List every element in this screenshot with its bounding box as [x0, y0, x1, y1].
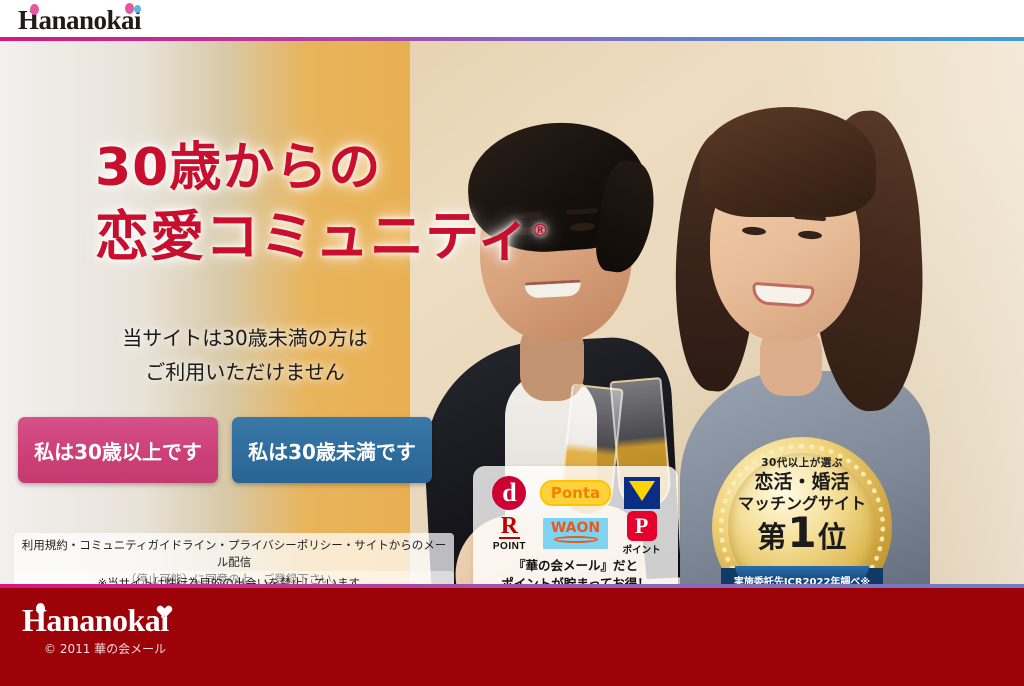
waon-ellipse-icon	[554, 536, 598, 543]
point-card: d Ponta R POINT WAON	[473, 466, 678, 584]
point-logo-item: P ポイント	[623, 514, 661, 552]
paypay-point-label: ポイント	[623, 542, 661, 556]
headline-line2-wrap: 恋愛コミュニティ®	[95, 199, 550, 269]
hero-section: 30歳からの 恋愛コミュニティ® 当サイトは30歳未満の方は ご利用いただけませ…	[0, 41, 1024, 584]
header-gradient-rule	[0, 37, 1024, 41]
medal-text-block: 30代以上が選ぶ 恋活・婚活 マッチングサイト 第 1 位	[712, 437, 892, 584]
rakuten-point-logo-icon: R	[499, 515, 520, 539]
logo-blue-dot-icon	[134, 5, 141, 13]
waon-logo-text: WAON	[551, 522, 600, 534]
medal-rank: 第 1 位	[757, 513, 846, 554]
waon-logo-icon: WAON	[543, 518, 608, 549]
footer-logo[interactable]: Hananokai	[22, 602, 169, 638]
header-logo[interactable]: Hananokai	[18, 5, 141, 35]
point-logo-item: R POINT	[493, 514, 526, 552]
registered-mark: ®	[532, 221, 550, 241]
site-header: Hananokai	[0, 0, 1024, 41]
under-30-button[interactable]: 私は30歳未満です	[232, 417, 432, 483]
subtitle-line2: ご利用いただけません	[95, 355, 395, 389]
point-logo-item	[624, 474, 660, 512]
site-footer: Hananokai © 2011 華の会メール JAPHIC マーク TRUST…	[0, 588, 1024, 686]
footer-heart-icon	[155, 601, 168, 613]
point-caption-line2: ポイントが貯まってお得！	[479, 575, 672, 584]
logo-pink-dot2-icon	[125, 3, 134, 14]
point-card-caption: 『華の会メール』だと ポイントが貯まってお得！	[479, 557, 672, 584]
point-logo-grid: d Ponta R POINT WAON	[479, 474, 672, 552]
hero-subtitle: 当サイトは30歳未満の方は ご利用いただけません	[95, 321, 395, 389]
terms-line1: 利用規約・コミュニティガイドライン・プライバシーポリシー・サイトからのメール配信	[20, 537, 448, 571]
medal-top-text: 30代以上が選ぶ	[761, 455, 843, 470]
footer-logo-dot-icon	[36, 603, 45, 614]
point-logo-item: Ponta	[540, 474, 611, 512]
point-logo-item: WAON	[543, 514, 608, 552]
paypay-logo-icon: P	[627, 511, 657, 541]
logo-pink-dot-icon	[30, 4, 39, 15]
headline-line1: 30歳からの	[95, 137, 550, 199]
medal-line1: 恋活・婚活	[754, 471, 849, 494]
d-point-logo-icon: d	[492, 476, 526, 510]
subtitle-line1: 当サイトは30歳未満の方は	[95, 321, 395, 355]
age-gate-buttons: 私は30歳以上です 私は30歳未満です	[18, 417, 432, 483]
medal-ribbon: 実施委託先JCR2022年調べ※	[721, 566, 883, 584]
ribbon-text: 実施委託先JCR2022年調べ※	[721, 566, 883, 584]
medal-rank-number: 1	[787, 513, 816, 553]
woman-hair-top	[700, 107, 876, 217]
point-caption-line1: 『華の会メール』だと	[479, 557, 672, 575]
headline-line2: 恋愛コミュニティ	[95, 205, 532, 268]
ponta-logo-icon: Ponta	[540, 480, 611, 506]
page-root: Hananokai	[0, 0, 1024, 686]
copyright-text: © 2011 華の会メール	[44, 640, 166, 657]
medal-rank-prefix: 第	[757, 520, 786, 554]
medal-rank-suffix: 位	[818, 520, 847, 554]
over-30-button[interactable]: 私は30歳以上です	[18, 417, 218, 483]
page-title: 30歳からの 恋愛コミュニティ®	[95, 137, 550, 269]
point-logo-item: d	[492, 474, 526, 512]
notice-line1: ※当サイトは性行為目的の出会いを禁止しています。	[20, 575, 448, 584]
rank-medal-badge: 30代以上が選ぶ 恋活・婚活 マッチングサイト 第 1 位 実施委託先JCR20…	[712, 437, 892, 584]
rakuten-point-label: POINT	[493, 541, 526, 552]
v-point-logo-icon	[624, 477, 660, 509]
notice-text: ※当サイトは性行為目的の出会いを禁止しています。 ※ご利用には運転免許証や保険証…	[14, 571, 454, 584]
